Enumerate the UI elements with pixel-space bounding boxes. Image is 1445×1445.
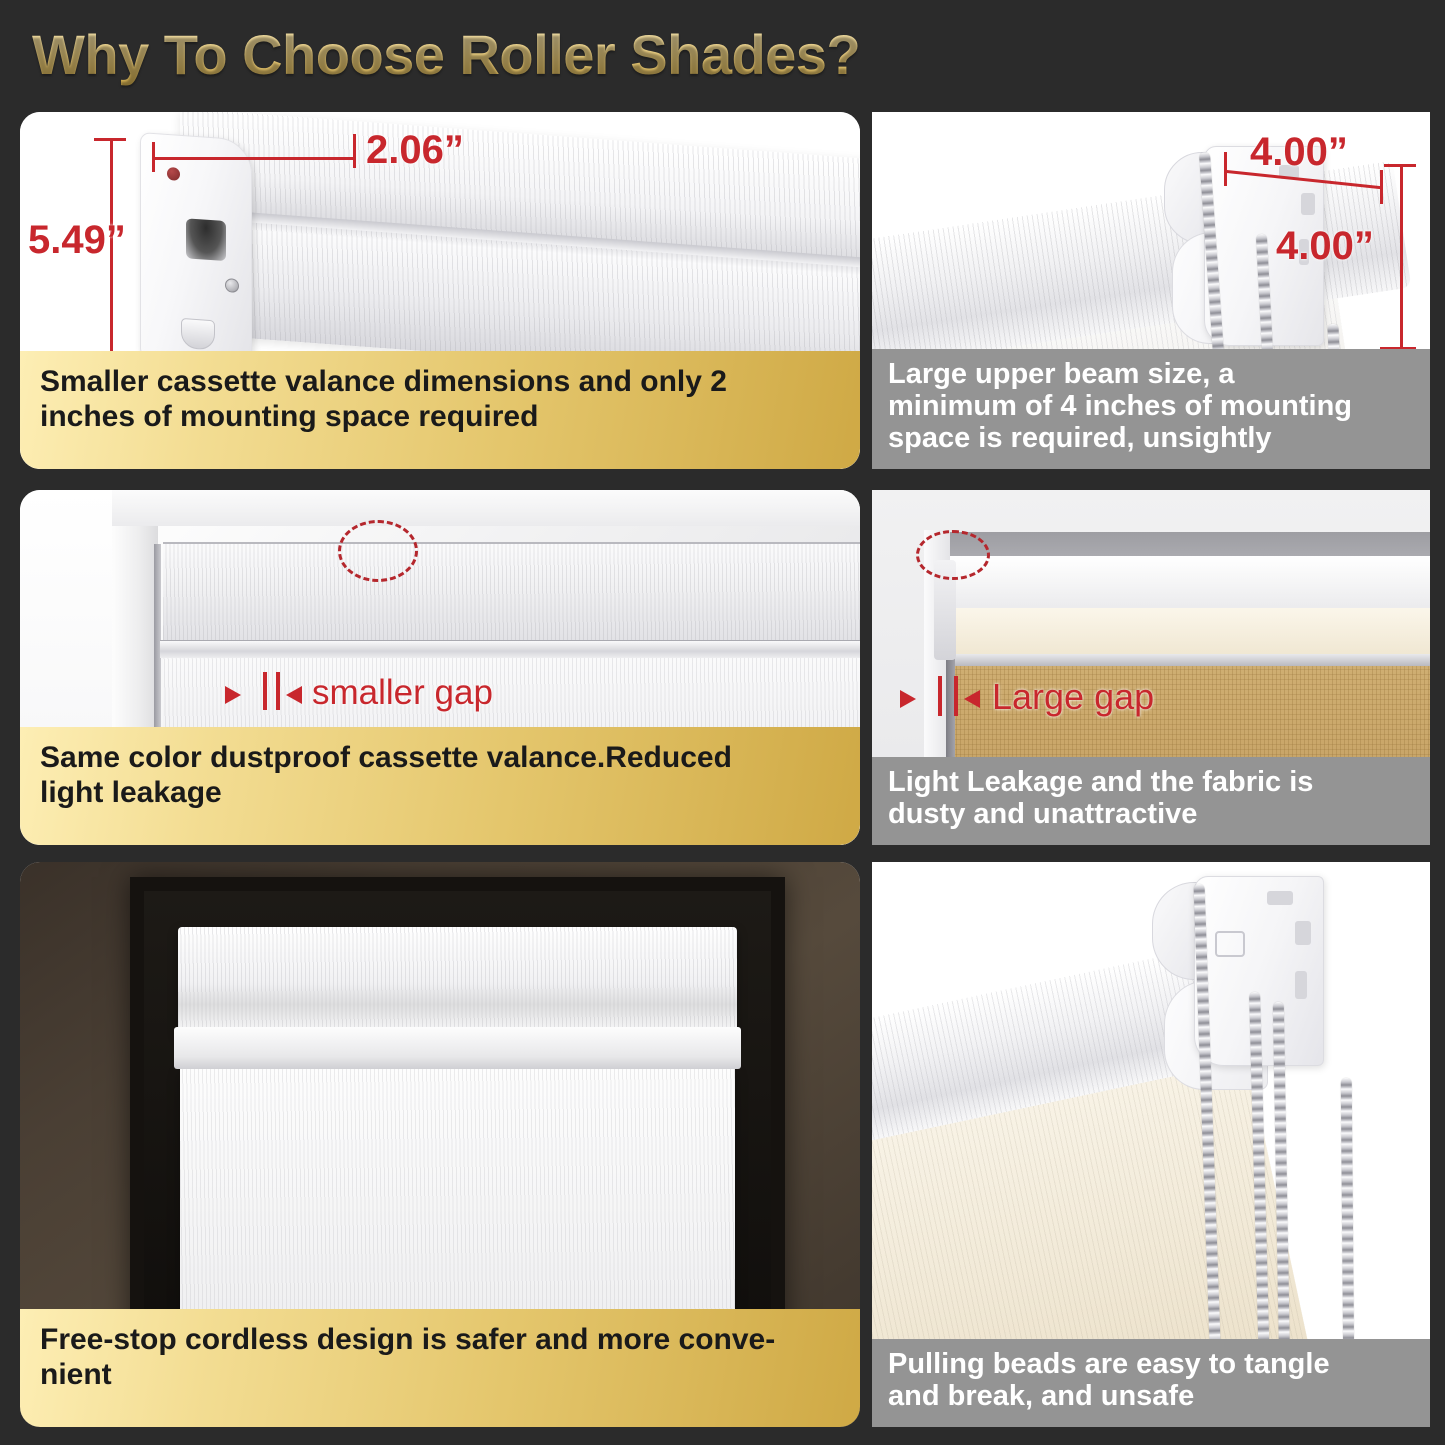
gap-label: smaller gap: [312, 673, 493, 713]
caption-dustproof-cassette-valance: Same color dustproof cassette valance.Re…: [20, 727, 860, 845]
infographic-page: Why To Choose Roller Shades? 2.06” 5.49”: [0, 0, 1445, 1445]
width-dimension-line: [152, 157, 356, 160]
panel-light-leakage-dusty-fabric: Large gap Light Leakage and the fabric i…: [872, 490, 1430, 845]
caption-line: dusty and unattractive: [888, 799, 1416, 831]
gap-arrow-left-icon: [225, 686, 241, 704]
caption-line: nient: [40, 1358, 842, 1393]
valance-upper-shade: [163, 542, 860, 640]
caption-line: light leakage: [40, 776, 842, 811]
beam-height-dimension-line: [1400, 164, 1403, 350]
caption-light-leakage-dusty-fabric: Light Leakage and the fabric is dusty an…: [872, 757, 1430, 845]
highlight-circle-icon: [338, 520, 418, 582]
page-title: Why To Choose Roller Shades?: [32, 22, 860, 87]
caption-pulling-beads-tangle: Pulling beads are easy to tangle and bre…: [872, 1339, 1430, 1427]
caption-free-stop-cordless-design: Free-stop cordless design is safer and m…: [20, 1309, 860, 1427]
gap-label: Large gap: [992, 676, 1154, 718]
caption-line: space is required, unsightly: [888, 423, 1416, 455]
competitor-rail: [950, 654, 1430, 666]
width-tick-right: [353, 134, 356, 168]
cassette-valance: [178, 927, 737, 1035]
gap-marker-left: [263, 672, 267, 710]
width-dimension-label: 2.06”: [366, 128, 464, 173]
beam-width-tick-right: [1380, 170, 1383, 204]
panel-large-upper-beam: 4.00” 4.00” Large upper beam size, a min…: [872, 112, 1430, 469]
caption-line: Pulling beads are easy to tangle: [888, 1349, 1416, 1381]
caption-line: minimum of 4 inches of mounting: [888, 391, 1416, 423]
caption-line: inches of mounting space required: [40, 400, 842, 435]
panel-dustproof-cassette-valance: smaller gap Same color dustproof cassett…: [20, 490, 860, 845]
caption-line: Free-stop cordless design is safer and m…: [40, 1323, 842, 1358]
panel-cassette-valance-dimensions: 2.06” 5.49” Smaller cassette valance dim…: [20, 112, 860, 469]
endcap-slot: [186, 218, 226, 261]
endcap-knob: [181, 318, 215, 350]
height-tick-top: [94, 138, 126, 141]
panel-pulling-beads-tangle: Pulling beads are easy to tangle and bre…: [872, 862, 1430, 1427]
beam-width-tick-left: [1224, 152, 1227, 186]
caption-line: Large upper beam size, a: [888, 359, 1416, 391]
caption-cassette-valance-dimensions: Smaller cassette valance dimensions and …: [20, 351, 860, 469]
caption-line: Same color dustproof cassette valance.Re…: [40, 741, 842, 776]
gap-marker-left: [938, 676, 942, 716]
height-dimension-label: 5.49”: [28, 218, 126, 263]
gap-arrow-left-icon: [900, 690, 916, 708]
caption-large-upper-beam: Large upper beam size, a minimum of 4 in…: [872, 349, 1430, 469]
competitor-cream-band: [952, 608, 1430, 656]
width-tick-left: [152, 142, 155, 172]
beam-width-dimension-label: 4.00”: [1250, 130, 1348, 175]
caption-line: Light Leakage and the fabric is: [888, 767, 1416, 799]
valance-lip: [174, 1027, 741, 1069]
caption-line: and break, and unsafe: [888, 1381, 1416, 1413]
gap-arrow-right-icon: [286, 686, 302, 704]
highlight-circle-icon: [916, 530, 990, 580]
gap-marker-right: [276, 672, 280, 710]
endcap-screw-mid: [225, 278, 239, 293]
panel-free-stop-cordless-design: Free-stop cordless design is safer and m…: [20, 862, 860, 1427]
valance-endcap: [140, 132, 252, 366]
beam-height-dimension-label: 4.00”: [1276, 224, 1374, 269]
gap-marker-right: [954, 676, 958, 716]
gap-arrow-right-icon: [964, 690, 980, 708]
endcap-screw-top: [167, 167, 180, 181]
beam-height-tick-top: [1384, 164, 1416, 167]
valance-rail: [160, 640, 860, 658]
caption-line: Smaller cassette valance dimensions and …: [40, 365, 842, 400]
